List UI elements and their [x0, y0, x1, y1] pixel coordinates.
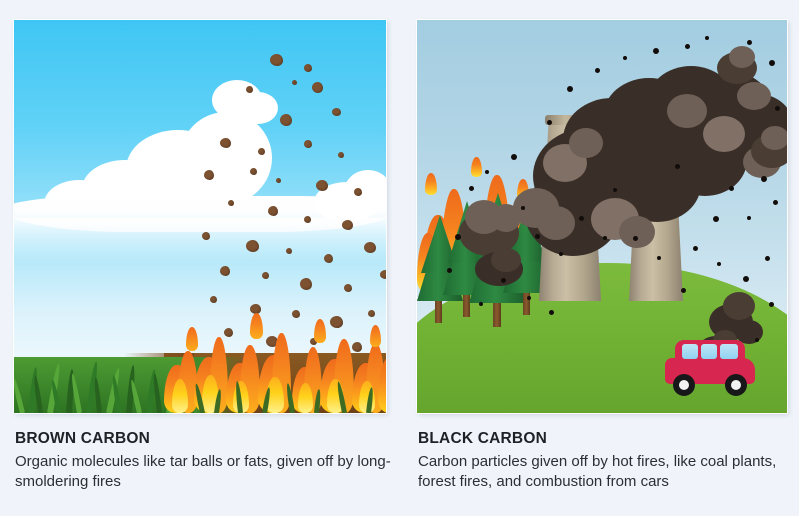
soot-particle — [775, 106, 780, 111]
flame-spark — [250, 313, 263, 339]
soot-particle — [501, 278, 506, 283]
tar-ball — [246, 240, 259, 252]
smoke-cluster — [491, 204, 521, 232]
tar-ball — [280, 114, 292, 126]
soot-particle — [747, 216, 751, 220]
soot-particle — [567, 86, 573, 92]
soot-particle — [705, 36, 709, 40]
soot-particle — [521, 206, 525, 210]
soot-particle — [755, 338, 759, 342]
exhaust-smoke-puff — [723, 292, 755, 320]
smoke-highlight-puff — [537, 206, 575, 240]
soot-particle — [527, 296, 531, 300]
soot-particle — [633, 236, 638, 241]
black-carbon-illustration — [417, 20, 787, 413]
tar-ball — [380, 270, 386, 279]
smoke-highlight-puff — [737, 82, 771, 110]
car-wheel-hub — [679, 380, 689, 390]
cloud-puff-right — [344, 170, 386, 214]
infographic-root: BROWN CARBON Organic molecules like tar … — [0, 0, 799, 516]
tar-ball — [250, 168, 257, 175]
soot-particle — [681, 288, 686, 293]
soot-particle — [769, 60, 775, 66]
black-carbon-title: BLACK CARBON — [418, 430, 796, 447]
soot-particle — [693, 246, 698, 251]
tar-ball — [224, 328, 233, 337]
soot-particle — [653, 48, 659, 54]
soot-particle — [761, 176, 767, 182]
tar-ball — [300, 278, 312, 290]
forest-fire-flame-spark — [425, 173, 437, 195]
brown-carbon-description: Organic molecules like tar balls or fats… — [15, 452, 397, 493]
tar-ball — [276, 178, 281, 183]
brown-carbon-title: BROWN CARBON — [15, 430, 397, 447]
smoke-cluster — [729, 46, 755, 68]
soot-particle — [485, 170, 489, 174]
car-window — [682, 344, 698, 359]
tar-ball — [246, 86, 253, 93]
tar-ball — [292, 80, 297, 85]
car-window — [701, 344, 717, 359]
black-carbon-caption: BLACK CARBON Carbon particles given off … — [418, 430, 796, 493]
tar-ball — [292, 310, 300, 318]
soot-particle — [479, 302, 483, 306]
tar-ball — [354, 188, 362, 196]
soot-particle — [657, 256, 661, 260]
flame-spark — [186, 327, 198, 351]
soot-particle — [535, 234, 540, 239]
soot-particle — [729, 186, 734, 191]
soot-particle — [547, 120, 552, 125]
soot-particle — [613, 188, 617, 192]
soot-particle — [743, 276, 749, 282]
soot-particle — [469, 186, 474, 191]
smoke-highlight-puff — [569, 128, 603, 158]
soot-particle — [559, 252, 563, 256]
soot-particle — [747, 40, 752, 45]
tar-ball — [268, 206, 278, 216]
smoke-cluster — [761, 126, 787, 150]
soot-particle — [765, 256, 770, 261]
tar-ball — [338, 152, 344, 158]
tar-ball — [220, 266, 230, 276]
flame-spark — [314, 319, 326, 343]
tar-ball — [220, 138, 231, 148]
smoke-highlight-puff — [619, 216, 655, 248]
soot-particle — [717, 262, 721, 266]
tar-ball — [304, 216, 311, 223]
flame-spark — [370, 325, 381, 347]
tar-ball — [204, 170, 214, 180]
soot-particle — [603, 236, 607, 240]
tar-ball — [202, 232, 210, 240]
soot-particle — [713, 216, 719, 222]
tar-ball — [258, 148, 265, 155]
tar-ball — [368, 310, 375, 317]
tar-ball — [364, 242, 376, 253]
soot-particle — [549, 310, 554, 315]
smoke-highlight-puff — [667, 94, 707, 128]
car-window — [720, 344, 738, 359]
soot-particle — [511, 154, 517, 160]
soot-particle — [769, 302, 774, 307]
tar-ball — [342, 220, 353, 230]
soot-particle — [623, 56, 627, 60]
tar-ball — [228, 200, 234, 206]
smoke-cluster — [491, 248, 521, 272]
tar-ball — [262, 272, 269, 279]
tar-ball — [286, 248, 292, 254]
tar-ball — [304, 140, 312, 148]
tar-ball — [270, 54, 283, 66]
brown-carbon-caption: BROWN CARBON Organic molecules like tar … — [15, 430, 397, 493]
cloud-puff — [180, 112, 272, 204]
tar-ball — [332, 108, 341, 116]
cloud-puff-small — [238, 92, 278, 124]
soot-particle — [773, 200, 778, 205]
soot-particle — [685, 44, 690, 49]
forest-fire-flame-spark — [471, 157, 482, 177]
smoke-highlight-puff — [703, 116, 745, 152]
tar-ball — [304, 64, 312, 72]
soot-particle — [455, 234, 461, 240]
tar-ball — [316, 180, 328, 191]
soot-particle — [447, 268, 452, 273]
car-wheel-hub — [731, 380, 741, 390]
brown-carbon-illustration — [14, 20, 386, 413]
tar-ball — [330, 316, 343, 328]
black-carbon-description: Carbon particles given off by hot fires,… — [418, 452, 796, 493]
soot-particle — [675, 164, 680, 169]
soot-particle — [595, 68, 600, 73]
tar-ball — [344, 284, 352, 292]
tar-ball — [324, 254, 333, 263]
tar-ball — [312, 82, 323, 93]
tar-ball — [352, 342, 362, 352]
tar-ball — [210, 296, 217, 303]
soot-particle — [579, 216, 584, 221]
